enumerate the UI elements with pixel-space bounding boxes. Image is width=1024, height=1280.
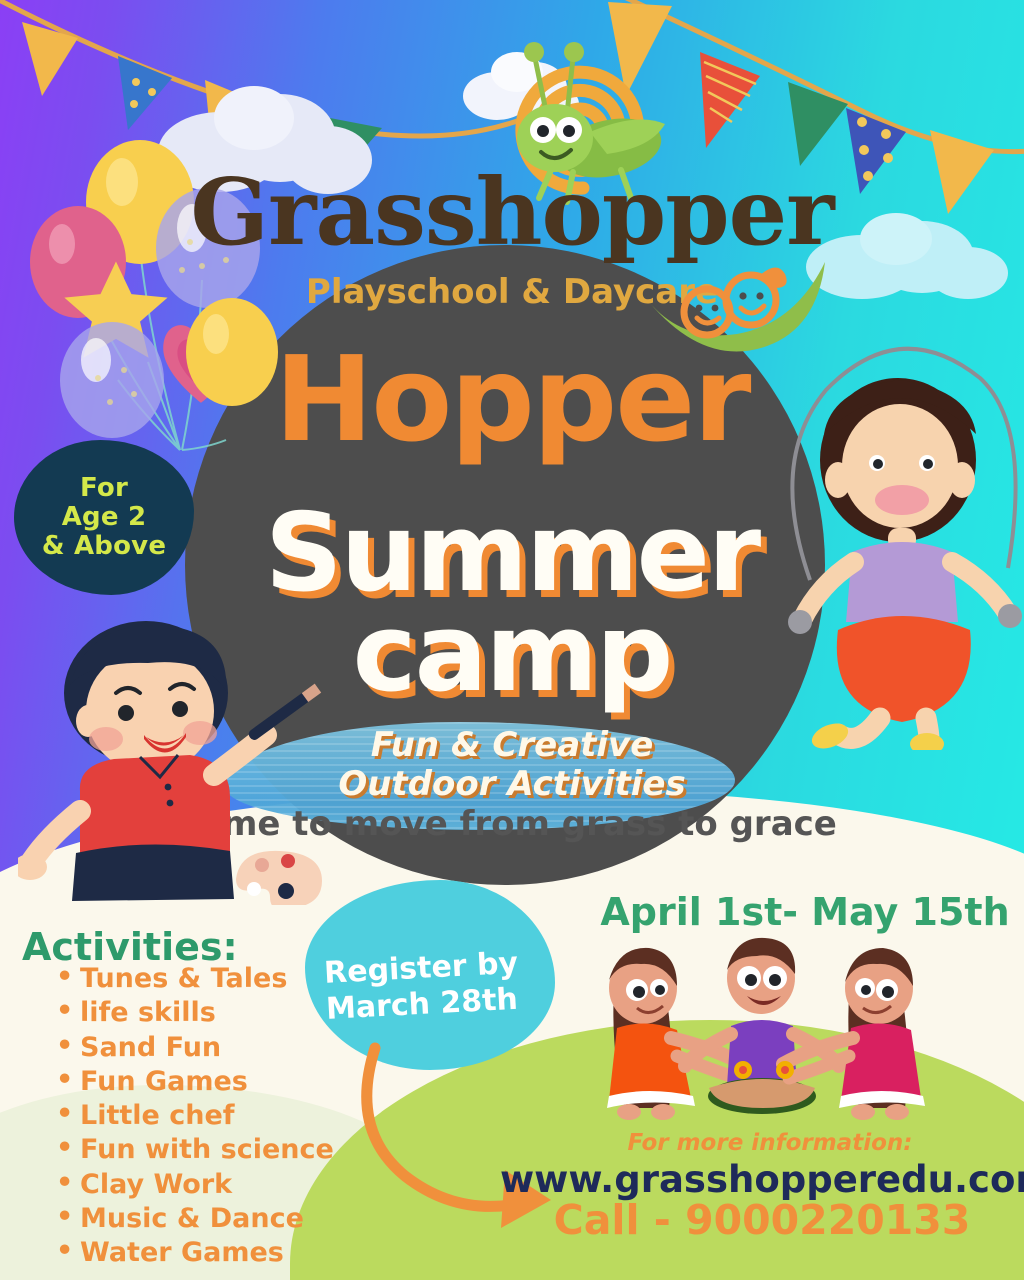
list-item: life skills (52, 996, 334, 1030)
three-children-circle-illustration (585, 930, 935, 1125)
register-badge-text: Register by March 28th (323, 944, 551, 1028)
brand-tagline: Playschool & Daycare (0, 272, 1024, 312)
list-item: Fun with science (52, 1133, 334, 1167)
activities-list: Tunes & Tales life skills Sand Fun Fun G… (52, 962, 334, 1271)
list-item: Clay Work (52, 1168, 334, 1202)
girl-jumping-rope-illustration (780, 330, 1024, 750)
website-link[interactable]: www.grasshopperedu.com (500, 1158, 1024, 1201)
list-item: Tunes & Tales (52, 962, 334, 996)
subhead-line2: Outdoor Activities (338, 764, 685, 804)
contact-label: For more information: (520, 1130, 1020, 1156)
list-item: Music & Dance (52, 1202, 334, 1236)
brand-logo-name: Grasshopper (0, 158, 1024, 266)
subhead-line1: Fun & Creative (371, 725, 654, 765)
list-item: Water Games (52, 1236, 334, 1270)
list-item: Sand Fun (52, 1031, 334, 1065)
list-item: Little chef (52, 1099, 334, 1133)
list-item: Fun Games (52, 1065, 334, 1099)
camp-dates: April 1st- May 15th (600, 890, 1010, 934)
boy-painting-illustration (18, 615, 348, 905)
phone-number[interactable]: Call - 9000220133 (500, 1196, 1024, 1244)
age-badge-line1: For (80, 473, 128, 503)
summer-camp-poster: Grasshopper Playschool & Daycare For Age… (0, 0, 1024, 1280)
